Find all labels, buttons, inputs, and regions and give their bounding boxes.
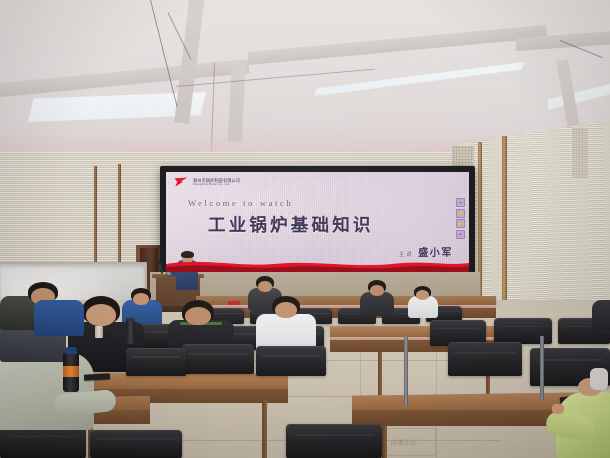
mesh-panel-right — [572, 128, 588, 178]
chair-front-3 — [286, 424, 382, 458]
slide-presenter-name: 盛小军 — [418, 244, 453, 259]
water-bottle-thermos — [126, 320, 135, 344]
chair-front-2 — [90, 430, 182, 458]
a7-head — [275, 302, 297, 318]
ceiling-seam-left — [150, 0, 178, 107]
chair-mid-2 — [182, 344, 254, 374]
a10-torso — [34, 300, 84, 336]
led-screen-bezel: 郑州市锅炉制造有限公司 Zhengzhou Boiler Co., Ltd. W… — [160, 166, 475, 278]
thermos-cap — [126, 318, 135, 321]
slide-presenter-block: 主讲 盛小军 — [399, 244, 453, 259]
chair-mid-3 — [126, 348, 186, 376]
a11-hand — [552, 404, 564, 414]
desk-row2-leg-1 — [378, 352, 382, 400]
chair-rail-post-1 — [404, 336, 408, 406]
presentation-slide[interactable]: 郑州市锅炉制造有限公司 Zhengzhou Boiler Co., Ltd. W… — [166, 172, 469, 272]
slide-presenter-label: 主讲 — [399, 250, 413, 258]
a11-hair-light — [590, 368, 608, 390]
a6-head — [185, 307, 211, 325]
far-right-torso — [592, 300, 610, 330]
a5-head — [86, 304, 116, 326]
ceiling-beam-vertical-center — [228, 60, 246, 143]
toolbar-button-next[interactable]: ⏩ — [456, 219, 465, 228]
a4-head — [133, 293, 149, 305]
desk-row3-right-leg — [382, 426, 387, 458]
skylight-panel-far-right — [548, 84, 610, 110]
desk-row3-leg-2 — [262, 400, 267, 458]
toolbar-button-last[interactable]: ⏭ — [456, 230, 465, 239]
toolbar-button-first[interactable]: ⏮ — [456, 198, 465, 207]
chair-right-1 — [448, 342, 522, 376]
red-swoosh-logo-icon — [174, 177, 190, 188]
logo-company-en: Zhengzhou Boiler Co., Ltd. — [193, 183, 240, 186]
a9-head — [416, 290, 429, 300]
bottle-blue-cap — [65, 347, 77, 354]
chair-mid-1 — [256, 346, 326, 376]
slide-company-logo: 郑州市锅炉制造有限公司 Zhengzhou Boiler Co., Ltd. — [174, 177, 240, 188]
paper-cup — [95, 326, 103, 338]
a1-torso — [0, 352, 94, 430]
slide-welcome-line: Welcome to watch — [188, 198, 293, 208]
ceiling-beam-right — [247, 25, 547, 65]
slide-title: 工业锅炉基础知识 — [208, 212, 374, 237]
desk-row1-top — [196, 296, 496, 305]
bottle-orange-band — [63, 366, 79, 377]
a12-head — [370, 285, 384, 296]
logo-company-cn: 郑州市锅炉制造有限公司 — [193, 179, 240, 183]
slide-playback-toolbar[interactable]: ⏮ ⏪ ⏩ ⏭ — [456, 198, 465, 239]
red-folder — [228, 301, 240, 305]
conference-room-photo: 郑州市锅炉制造有限公司 Zhengzhou Boiler Co., Ltd. W… — [0, 0, 610, 458]
a8-head — [258, 281, 272, 292]
skylight-panel-right — [312, 62, 524, 96]
chair-rail-post-2 — [540, 336, 544, 400]
toolbar-button-prev[interactable]: ⏪ — [456, 209, 465, 218]
chair-front-1 — [0, 426, 86, 458]
